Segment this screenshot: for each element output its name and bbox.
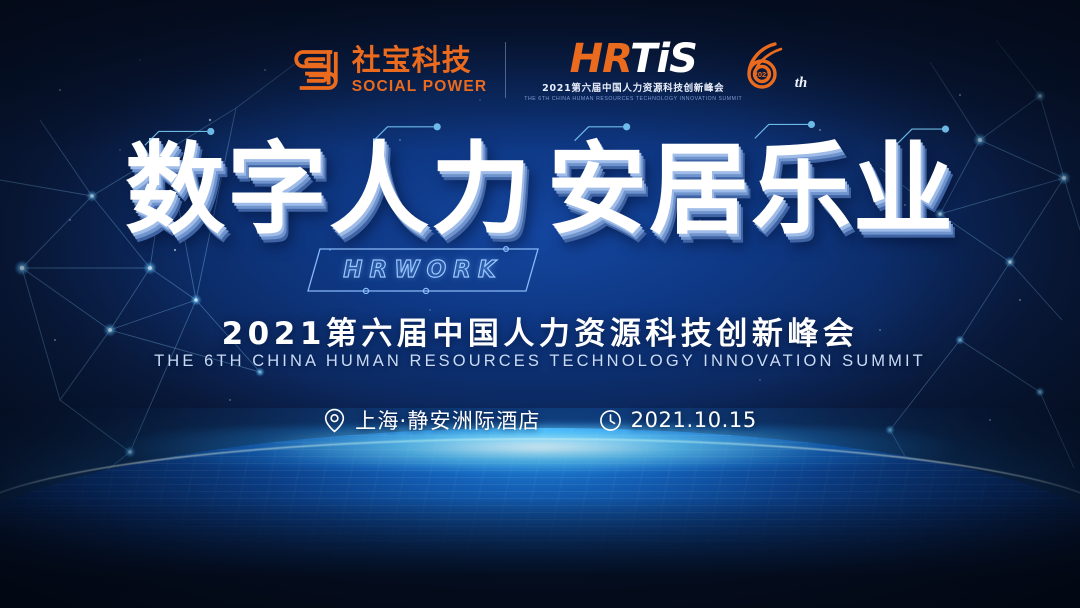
event-logo-subtitle-cn: 2021第六届中国人力资源科技创新峰会 [542, 80, 724, 94]
social-power-monogram-icon [289, 43, 343, 97]
event-logo-subtitle-en: THE 6TH CHINA HUMAN RESOURCES TECHNOLOGY… [524, 96, 742, 102]
edition-year-label: 2021 [754, 70, 771, 79]
date-label: 2021.10.15 [631, 408, 757, 432]
header-logo-row: 社宝科技 SOCIAL POWER HRTiS 2021第六届中国人力资源科技创… [0, 38, 1080, 102]
sixth-edition-badge: 2021 th [739, 40, 791, 96]
subtitle-cn: 2021第六届中国人力资源科技创新峰会 [0, 308, 1080, 353]
sponsor-name-cn: 社宝科技 [352, 46, 488, 75]
sixth-edition-spiral-icon: 2021 [739, 40, 791, 96]
location-pin-icon [323, 408, 346, 433]
event-poster: 社宝科技 SOCIAL POWER HRTiS 2021第六届中国人力资源科技创… [0, 0, 1080, 608]
venue-label: 上海·静安洲际酒店 [355, 405, 540, 435]
wordmark-hr: HR [570, 36, 630, 82]
sponsor-name-en: SOCIAL POWER [352, 79, 488, 95]
main-title-zone: 数字人力安居乐业 [0, 140, 1080, 240]
event-logo[interactable]: HRTiS 2021第六届中国人力资源科技创新峰会 THE 6TH CHINA … [524, 38, 791, 102]
event-meta-row: 上海·静安洲际酒店 2021.10.15 [0, 405, 1080, 435]
sponsor-logo[interactable]: 社宝科技 SOCIAL POWER [289, 43, 488, 97]
subtitle-en: THE 6TH CHINA HUMAN RESOURCES TECHNOLOGY… [0, 352, 1080, 371]
venue-item: 上海·静安洲际酒店 [323, 405, 540, 435]
wordmark-tis: TiS [630, 36, 697, 82]
main-title: 数字人力安居乐业 [125, 140, 955, 240]
clock-icon [599, 409, 622, 432]
edition-suffix-label: th [795, 75, 808, 92]
date-item: 2021.10.15 [599, 408, 757, 432]
main-title-part1: 数字人力 [125, 140, 533, 240]
main-title-part2: 安居乐业 [547, 140, 955, 240]
logo-divider [505, 42, 506, 98]
event-wordmark: HRTiS [570, 40, 697, 78]
